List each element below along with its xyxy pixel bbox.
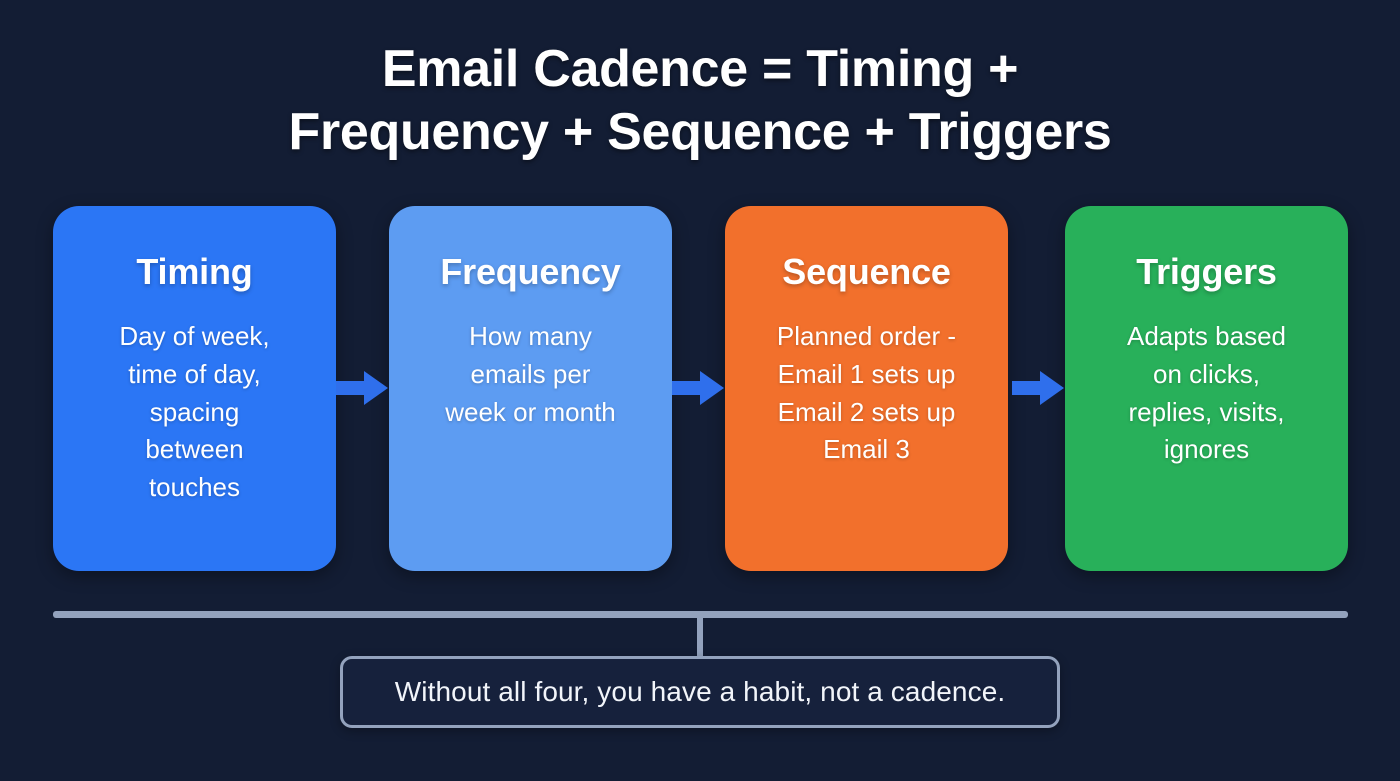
card-title: Timing	[67, 252, 322, 292]
card-description: Planned order - Email 1 sets up Email 2 …	[739, 318, 994, 470]
card-description: Adapts based on clicks, replies, visits,…	[1079, 318, 1334, 470]
card-description: How many emails per week or month	[403, 318, 658, 432]
card-title: Triggers	[1079, 252, 1334, 292]
page-title-line-1: Email Cadence = Timing +	[0, 38, 1400, 101]
connector-stem	[697, 614, 703, 658]
caption-box: Without all four, you have a habit, not …	[340, 656, 1060, 728]
card-triggers[interactable]: Triggers Adapts based on clicks, replies…	[1065, 206, 1348, 571]
arrow-right-icon	[1012, 371, 1064, 405]
card-timing[interactable]: Timing Day of week, time of day, spacing…	[53, 206, 336, 571]
page-title-line-2: Frequency + Sequence + Triggers	[0, 101, 1400, 164]
card-description: Day of week, time of day, spacing betwee…	[67, 318, 322, 508]
arrow-right-icon	[336, 371, 388, 405]
caption-text: Without all four, you have a habit, not …	[395, 676, 1006, 708]
card-sequence[interactable]: Sequence Planned order - Email 1 sets up…	[725, 206, 1008, 571]
arrow-right-icon	[672, 371, 724, 405]
card-frequency[interactable]: Frequency How many emails per week or mo…	[389, 206, 672, 571]
card-title: Sequence	[739, 252, 994, 292]
page-title: Email Cadence = Timing + Frequency + Seq…	[0, 38, 1400, 165]
card-title: Frequency	[403, 252, 658, 292]
